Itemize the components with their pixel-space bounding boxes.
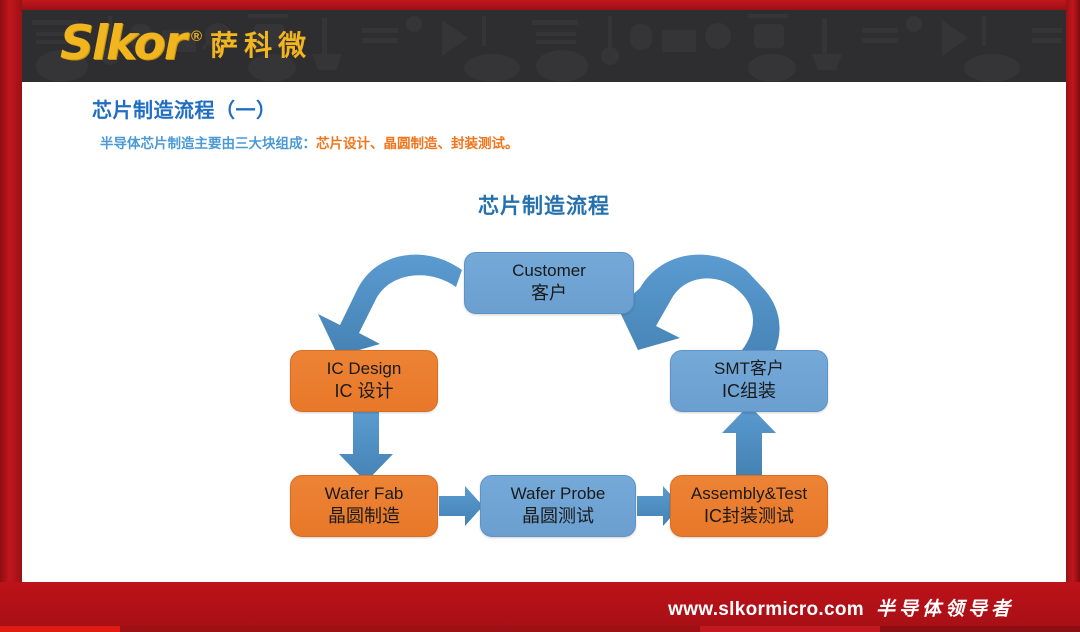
arrow-icdesign-to-waferfab [339,412,393,482]
slide-root: Slkor ® 萨科微 芯片制造流程（一） 半导体芯片制造主要由三大块组成：芯片… [0,0,1080,632]
node-smt-customer[interactable]: SMT客户 IC组装 [670,350,828,412]
frame-top-border [0,0,1080,10]
slide-header: Slkor ® 萨科微 [22,10,1066,82]
node-customer[interactable]: Customer 客户 [464,252,634,314]
node-assembly-test-label-en: Assembly&Test [691,483,807,505]
node-assembly-test-label-cn: IC封装测试 [704,505,794,529]
registered-trademark-icon: ® [191,28,202,45]
node-wafer-probe-label-en: Wafer Probe [511,483,606,505]
node-assembly-test[interactable]: Assembly&Test IC封装测试 [670,475,828,537]
node-customer-label-cn: 客户 [531,282,567,306]
frame-left-border [0,0,22,632]
node-wafer-fab-label-cn: 晶圆制造 [328,505,400,529]
arrow-waferfab-to-waferprobe [439,486,483,526]
brand-logo[interactable]: Slkor ® 萨科微 [60,16,306,71]
footer-tagline: 半导体领导者 [876,594,1014,621]
footer-content: www.slkormicro.com 半导体领导者 [668,594,1014,621]
node-smt-customer-label-cn: IC组装 [722,380,776,404]
node-smt-customer-label-en: SMT客户 [714,358,784,380]
footer-website-url[interactable]: www.slkormicro.com [668,599,864,621]
logo-wordmark: Slkor [60,16,185,71]
frame-right-border [1066,0,1080,632]
slide-footer: www.slkormicro.com 半导体领导者 [0,582,1080,632]
node-wafer-fab-label-en: Wafer Fab [325,483,404,505]
node-ic-design[interactable]: IC Design IC 设计 [290,350,438,412]
process-flow-diagram: Customer 客户 IC Design IC 设计 SMT客户 IC组装 W… [22,82,1066,582]
node-wafer-fab[interactable]: Wafer Fab 晶圆制造 [290,475,438,537]
node-wafer-probe[interactable]: Wafer Probe 晶圆测试 [480,475,636,537]
node-ic-design-label-en: IC Design [327,358,402,380]
footer-accent-blocks [0,626,1080,632]
slide-body: 芯片制造流程（一） 半导体芯片制造主要由三大块组成：芯片设计、晶圆制造、封装测试… [22,82,1066,582]
node-wafer-probe-label-cn: 晶圆测试 [522,505,594,529]
node-ic-design-label-cn: IC 设计 [334,380,393,404]
arrow-assembly-to-smt [722,405,776,475]
logo-chinese-name: 萨科微 [210,24,312,64]
node-customer-label-en: Customer [512,260,586,282]
arrow-customer-to-icdesign [318,255,462,356]
